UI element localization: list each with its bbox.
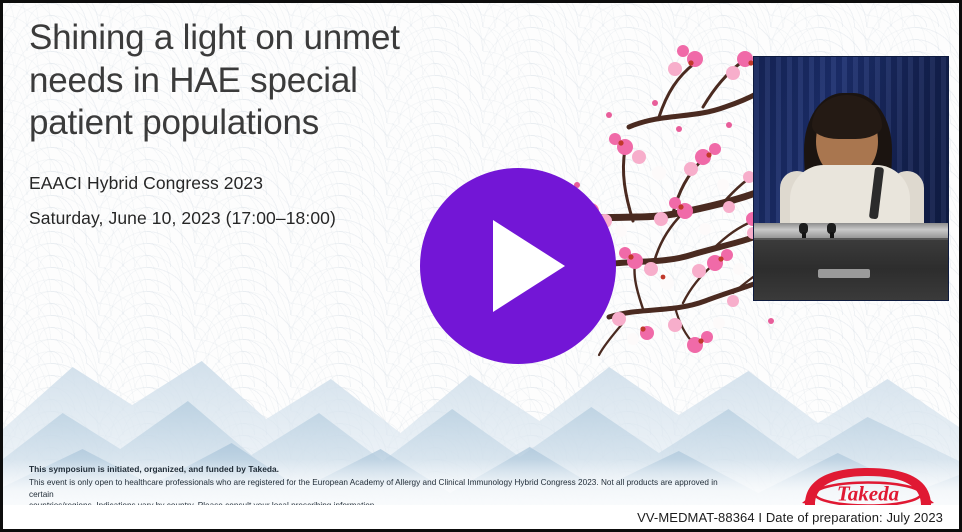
lectern-podium (754, 238, 948, 300)
presentation-slide: Shining a light on unmet needs in HAE sp… (3, 3, 959, 529)
preparation-code-text: VV-MEDMAT-88364 I Date of preparation: J… (637, 510, 943, 525)
video-player-screen: Shining a light on unmet needs in HAE sp… (0, 0, 962, 532)
slide-title: Shining a light on unmet needs in HAE sp… (29, 17, 549, 145)
preparation-code-bar: VV-MEDMAT-88364 I Date of preparation: J… (3, 505, 959, 529)
podium-plate (818, 269, 870, 278)
legal-headline: This symposium is initiated, organized, … (29, 464, 729, 476)
speaker-video-thumbnail[interactable] (753, 56, 949, 301)
takeda-logo: Takeda (798, 466, 938, 508)
play-button[interactable] (420, 168, 616, 364)
play-triangle-icon (493, 220, 565, 312)
legal-line-1: This event is only open to healthcare pr… (29, 477, 729, 500)
svg-text:Takeda: Takeda (837, 482, 899, 506)
